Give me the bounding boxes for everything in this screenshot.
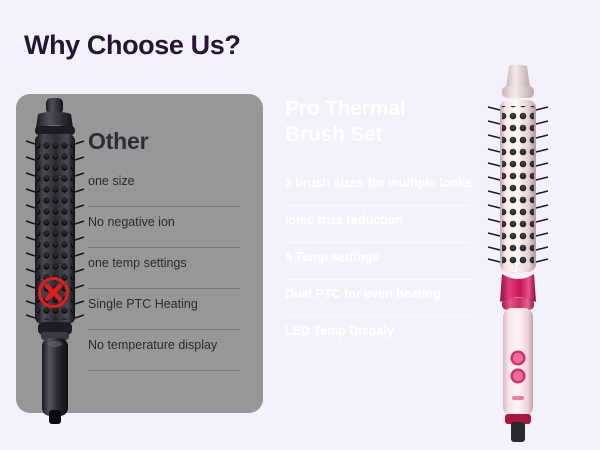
pro-feature-label: 5 Temp settings (285, 250, 475, 265)
pink-thermal-brush-image (478, 62, 558, 442)
list-item: one temp settings (88, 256, 243, 297)
divider (285, 242, 471, 243)
divider (285, 279, 471, 280)
list-item: Dual PTC for even heating (285, 287, 475, 324)
list-item: No temperature display (88, 338, 243, 379)
other-feature-label: one temp settings (88, 256, 243, 271)
divider (88, 288, 240, 289)
list-item: Single PTC Heating (88, 297, 243, 338)
other-feature-label: No negative ion (88, 215, 243, 230)
other-feature-label: Single PTC Heating (88, 297, 243, 312)
other-feature-list: one size No negative ion one temp settin… (88, 174, 243, 379)
list-item: LED Temp Dispaly (285, 324, 475, 361)
pro-feature-label: LED Temp Dispaly (285, 324, 475, 339)
red-x-circle-icon (37, 276, 70, 309)
divider (88, 329, 240, 330)
divider (285, 316, 471, 317)
comparison-infographic: Why Choose Us? (0, 0, 600, 450)
pro-heading-line-2: Brush Set (285, 122, 405, 148)
pro-feature-list: 3 brush sizes for multiple looks Ionic f… (285, 176, 475, 361)
other-feature-label: No temperature display (88, 338, 243, 353)
list-item: Ionic frizz reduction (285, 213, 475, 250)
list-item: one size (88, 174, 243, 215)
pro-heading-line-1: Pro Thermal (285, 96, 405, 122)
black-thermal-brush-image (24, 96, 86, 426)
list-item: No negative ion (88, 215, 243, 256)
divider (285, 205, 471, 206)
divider (88, 206, 240, 207)
divider (88, 247, 240, 248)
divider (88, 370, 240, 371)
pro-feature-label: 3 brush sizes for multiple looks (285, 176, 475, 191)
other-card-heading: Other (88, 128, 148, 155)
pro-card-heading: Pro Thermal Brush Set (285, 96, 405, 148)
pro-feature-label: Ionic frizz reduction (285, 213, 475, 228)
list-item: 3 brush sizes for multiple looks (285, 176, 475, 213)
page-title: Why Choose Us? (24, 30, 240, 61)
list-item: 5 Temp settings (285, 250, 475, 287)
pro-feature-label: Dual PTC for even heating (285, 287, 475, 302)
other-feature-label: one size (88, 174, 243, 189)
